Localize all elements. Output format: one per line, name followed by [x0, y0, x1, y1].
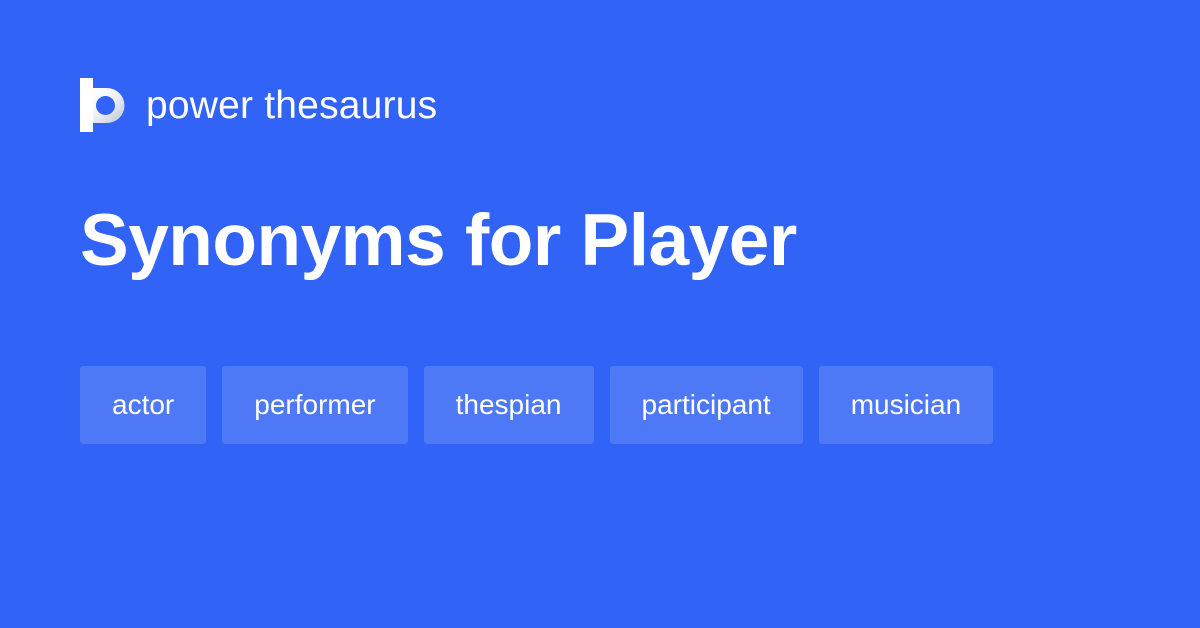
brand-header[interactable]: power thesaurus: [80, 78, 437, 132]
synonym-chip-list: actor performer thespian participant mus…: [80, 366, 1120, 444]
synonym-chip[interactable]: thespian: [424, 366, 594, 444]
thesaurus-share-card: power thesaurus Synonyms for Player acto…: [0, 0, 1200, 628]
brand-name: power thesaurus: [146, 86, 437, 125]
synonym-chip[interactable]: actor: [80, 366, 206, 444]
synonym-chip[interactable]: participant: [610, 366, 803, 444]
page-title: Synonyms for Player: [80, 199, 797, 283]
synonym-chip[interactable]: performer: [222, 366, 407, 444]
power-thesaurus-b-logo-icon: [80, 78, 126, 132]
synonym-chip[interactable]: musician: [819, 366, 993, 444]
